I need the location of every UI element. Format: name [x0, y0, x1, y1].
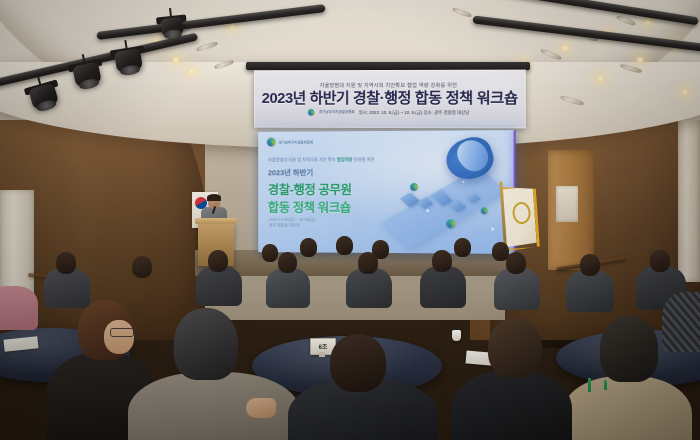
slide-heading-2: 합동 정책 워크숍	[268, 197, 351, 216]
iso-sparkle	[463, 181, 465, 183]
attendee-torso	[266, 268, 310, 308]
paper-cup[interactable]	[452, 330, 461, 341]
attendee-head	[488, 318, 542, 378]
iso-megaphone-cone	[452, 134, 494, 177]
attendee-torso	[494, 268, 540, 310]
banner-org-name: 경기남부자치경찰위원회	[319, 110, 355, 115]
slide-logo: 경기남부자치경찰위원회	[267, 137, 313, 146]
podium-top	[195, 218, 237, 224]
iso-sparkle	[491, 227, 494, 230]
lanyard	[604, 380, 607, 390]
slide-subtitle-post: 강화를 위한	[352, 157, 374, 162]
downlight	[188, 68, 195, 75]
slide-logo-icon	[267, 138, 276, 147]
right-wall-column	[678, 92, 700, 282]
attendee-head	[300, 238, 317, 257]
attendee-head	[506, 252, 526, 274]
attendee-torso	[118, 272, 166, 314]
downlight	[681, 88, 689, 96]
attendee-torso	[420, 266, 466, 308]
attendee-head	[132, 256, 152, 278]
iso-sparkle	[426, 209, 429, 212]
slide-subtitle: 자율방범대 지원 및 지역사회 치안 확보 협업역량 강화를 위한	[268, 157, 375, 163]
stage-light	[112, 38, 141, 64]
attendee-head	[650, 250, 670, 272]
slide-year-line: 2023년 하반기	[268, 167, 313, 178]
attendee-torso	[346, 268, 392, 308]
attendee-head	[262, 244, 278, 262]
downlight	[644, 18, 652, 26]
attendee-head	[208, 250, 228, 272]
attendee-head	[454, 238, 471, 257]
door-panel-inset	[556, 186, 578, 222]
placard-stand	[319, 352, 325, 357]
iso-accent-dot	[410, 183, 418, 191]
attendee-head	[56, 252, 76, 274]
slide-subtitle-accent: 협업역량	[337, 157, 353, 162]
attendee-head	[174, 308, 238, 380]
iso-accent-dot	[481, 207, 488, 214]
slide-logo-text: 경기남부자치경찰위원회	[279, 139, 314, 144]
presenter-hair	[207, 194, 221, 201]
attendee-torso	[44, 268, 90, 308]
attendee-head	[278, 252, 297, 273]
stage-light	[159, 7, 183, 27]
gold-ceremonial-flag	[503, 185, 542, 253]
downlight	[561, 44, 569, 52]
hand-holding-cup	[246, 398, 276, 418]
slide-subtitle-pre: 자율방범대 지원 및 지역사회 치안 확보	[268, 157, 337, 162]
organization-logo-icon	[308, 109, 315, 116]
attendee-head	[432, 250, 452, 272]
table-number-text: 6조	[319, 342, 328, 351]
event-banner: 자율방범대 지원 및 지역사회 치안확보·협업 역량 강화를 위한 2023년 …	[254, 70, 526, 129]
stage-light	[70, 52, 100, 79]
banner-event-info: 일시: 2023. 10. 6.(금) ~ 10. 6.(금) 장소: 광주 경…	[359, 109, 470, 115]
iso-accent-dot	[446, 219, 455, 228]
banner-footer: 경기남부자치경찰위원회 일시: 2023. 10. 6.(금) ~ 10. 6.…	[308, 109, 469, 116]
attendee-head	[336, 236, 353, 255]
projector-screen: 경기남부자치경찰위원회 자율방범대 지원 및 지역사회 치안 확보 협업역량 강…	[258, 130, 515, 254]
eyeglasses-icon	[110, 328, 134, 337]
attendee-torso	[452, 370, 572, 440]
conference-hall-photo: 자율방범대 지원 및 지역사회 치안확보·협업 역량 강화를 위한 2023년 …	[0, 0, 700, 440]
attendee-head	[600, 316, 658, 382]
downlight	[636, 56, 644, 64]
attendee-face	[104, 320, 134, 354]
banner-title: 2023년 하반기 경찰·행정 합동 정책 워크숍	[262, 91, 518, 106]
iso-city-platform	[381, 167, 508, 249]
attendee-torso	[0, 286, 38, 330]
attendee-torso	[196, 266, 242, 306]
banner-subtitle: 자율방범대 지원 및 지역사회 치안확보·협업 역량 강화를 위한	[320, 82, 458, 89]
attendee-head	[358, 252, 378, 274]
attendee-torso	[566, 270, 614, 312]
downlight	[596, 74, 605, 83]
downlight	[172, 56, 180, 64]
attendee-head	[330, 334, 386, 392]
attendee-torso	[562, 376, 692, 440]
lanyard	[588, 378, 591, 392]
slide-isometric-graphic	[380, 134, 512, 248]
attendee-head	[580, 254, 600, 276]
attendee-torso	[662, 292, 700, 352]
slide-heading-1: 경찰-행정 공무원	[268, 179, 352, 198]
slide-date-line-2: 광주 경찰청 대강당	[269, 223, 300, 229]
